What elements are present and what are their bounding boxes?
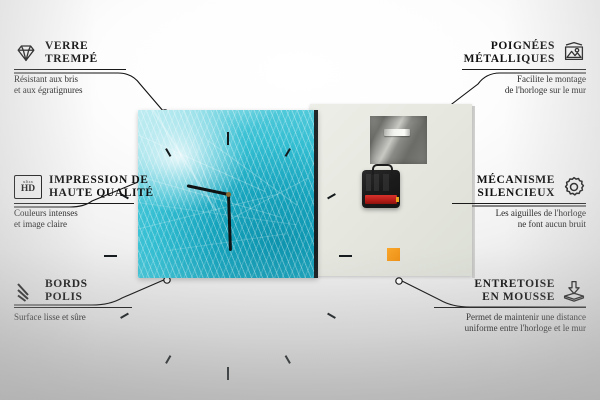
- callout-title-line2: MÉTALLIQUES: [464, 53, 555, 66]
- callout-impression-haute-qualite: ultra HD IMPRESSION DE HAUTE QUALITÉ Cou…: [14, 174, 134, 230]
- callout-title: VERRE: [45, 40, 98, 53]
- callout-title-line2: POLIS: [45, 291, 88, 304]
- foam-spacer: [387, 248, 400, 261]
- callout-divider: [14, 203, 134, 204]
- callout-poignees-metalliques: POIGNÉES MÉTALLIQUES Facilite le montage…: [462, 40, 586, 96]
- callout-title-line2: EN MOUSSE: [474, 291, 555, 304]
- down-arrow-pad-icon: [562, 279, 586, 303]
- hd-badge-hd-label: HD: [21, 185, 35, 195]
- hanger-slot: [384, 129, 410, 136]
- callout-divider: [14, 307, 132, 308]
- callout-title: MÉCANISME: [477, 174, 555, 187]
- callout-subtitle: Couleurs intenses et image claire: [14, 208, 134, 230]
- metal-hanger: [370, 116, 427, 164]
- mechanism-face: [366, 174, 396, 191]
- callout-title-line2: HAUTE QUALITÉ: [49, 187, 154, 200]
- callout-divider: [14, 69, 126, 70]
- callout-subtitle: Résistant aux bris et aux égratignures: [14, 74, 126, 96]
- ultra-hd-badge-icon: ultra HD: [14, 175, 42, 199]
- hour-hand: [186, 184, 230, 196]
- battery: [365, 195, 397, 204]
- clock-mechanism: [362, 170, 400, 208]
- callout-divider: [434, 307, 586, 308]
- callout-subtitle: Facilite le montage de l'horloge sur le …: [462, 74, 586, 96]
- product-image: [138, 104, 472, 280]
- callout-mecanisme-silencieux: MÉCANISME SILENCIEUX Les aiguilles de l'…: [452, 174, 586, 230]
- hands-cap: [226, 192, 231, 197]
- callout-divider: [452, 203, 586, 204]
- callout-title-line2: TREMPÉ: [45, 53, 98, 66]
- callout-title: BORDS: [45, 278, 88, 291]
- callout-subtitle: Surface lisse et sûre: [14, 312, 132, 323]
- diagonal-lines-icon: [14, 279, 38, 303]
- callout-title: ENTRETOISE: [474, 278, 555, 291]
- callout-entretoise-en-mousse: ENTRETOISE EN MOUSSE Permet de maintenir…: [434, 278, 586, 334]
- callout-subtitle: Les aiguilles de l'horloge ne font aucun…: [452, 208, 586, 230]
- callout-title: POIGNÉES: [464, 40, 555, 53]
- callout-subtitle: Permet de maintenir une distance uniform…: [434, 312, 586, 334]
- diamond-icon: [14, 41, 38, 65]
- callout-title: IMPRESSION DE: [49, 174, 154, 187]
- clock-front-glass-panel: [138, 110, 318, 278]
- callout-title-line2: SILENCIEUX: [477, 187, 555, 200]
- picture-frame-icon: [562, 41, 586, 65]
- clock-dial: [138, 110, 318, 278]
- gear-icon: [562, 175, 586, 199]
- infographic-canvas: VERRE TREMPÉ Résistant aux bris et aux é…: [0, 0, 600, 400]
- minute-hand: [226, 192, 231, 250]
- callout-bords-polis: BORDS POLIS Surface lisse et sûre: [14, 278, 132, 323]
- callout-verre-trempe: VERRE TREMPÉ Résistant aux bris et aux é…: [14, 40, 126, 96]
- callout-divider: [462, 69, 586, 70]
